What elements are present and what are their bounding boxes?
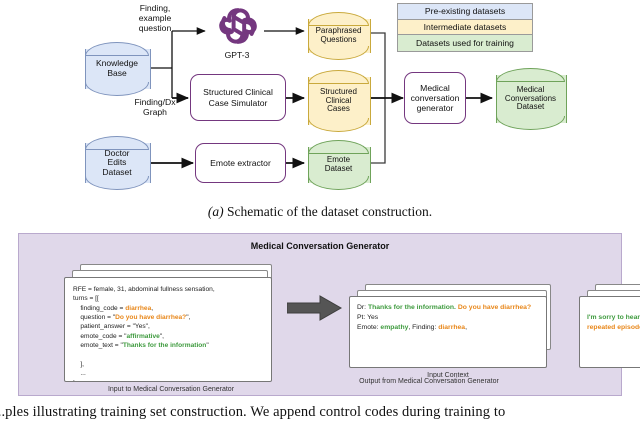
legend-label: Datasets used for training xyxy=(416,38,514,48)
text-line: question = "Do you have diarrhea?", xyxy=(73,313,263,322)
text-line: ] xyxy=(73,379,263,382)
text-line: Dr: Thanks for the information. Do you h… xyxy=(357,303,539,313)
plain-text: ", xyxy=(186,314,190,321)
plain-text: ] xyxy=(73,380,75,382)
plain-text: finding_code = xyxy=(73,305,125,312)
datastore-label: Structured Clinical Cases xyxy=(308,70,369,132)
plain-text: Pt: Yes xyxy=(357,314,378,321)
text-line: Pt: Yes xyxy=(357,313,539,323)
input-code-text: RFE = female, 31, abdominal fullness sen… xyxy=(65,278,271,382)
input-context-text: Dr: Thanks for the information. Do you h… xyxy=(350,297,546,339)
edge-label-finding-dx-graph: Finding/Dx Graph xyxy=(118,98,192,118)
datastore-label: Doctor Edits Dataset xyxy=(85,136,149,190)
datastore-label: Knowledge Base xyxy=(85,42,149,96)
highlight-emote: empathy xyxy=(380,324,408,331)
schematic-diagram: Finding, example question Finding/Dx Gra… xyxy=(0,0,640,200)
highlight-finding: diarrhea xyxy=(125,305,151,312)
plain-text: Dr: xyxy=(357,304,368,311)
legend: Pre-existing datasets Intermediate datas… xyxy=(397,3,533,52)
figure-page: Finding, example question Finding/Dx Gra… xyxy=(0,0,640,425)
plain-text: emote_text = " xyxy=(73,342,123,349)
datastore-medical-conversations-dataset: Medical Conversations Dataset xyxy=(496,68,565,130)
input-context-card-stack: Dr: Thanks for the information. Do you h… xyxy=(349,264,564,382)
legend-label: Pre-existing datasets xyxy=(425,6,505,16)
caption-a: (a) Schematic of the dataset constructio… xyxy=(0,204,640,220)
process-medical-conversation-generator[interactable]: Medical conversation generator xyxy=(404,72,466,124)
text-line: I'm sorry to hear that. Have you had xyxy=(587,313,640,323)
datastore-label: Emote Dataset xyxy=(308,140,369,190)
plain-text: patient_answer = "Yes", xyxy=(73,323,150,330)
flow-arrow-icon xyxy=(287,295,342,321)
highlight-finding: Do you have diarrhea? xyxy=(458,304,531,311)
legend-item-pre-existing: Pre-existing datasets xyxy=(398,4,532,20)
gpt3-node: GPT-3 xyxy=(208,4,266,66)
caption-marker: (a) xyxy=(208,204,224,219)
datastore-label: Medical Conversations Dataset xyxy=(496,68,565,130)
input-code-card[interactable]: RFE = female, 31, abdominal fullness sen… xyxy=(64,277,272,382)
text-line: repeated episodes of abdominal pain? xyxy=(587,323,640,333)
process-structured-clinical-case-simulator[interactable]: Structured Clinical Case Simulator xyxy=(190,74,286,121)
openai-logo-icon xyxy=(216,4,260,48)
text-line xyxy=(73,351,263,360)
text-line: emote_code = "affirmative", xyxy=(73,332,263,341)
highlight-finding: diarrhea xyxy=(438,324,465,331)
caption-text: Schematic of the dataset construction. xyxy=(227,204,432,219)
text-line: Emote: empathy, Finding: diarrhea, xyxy=(357,323,539,333)
plain-text: Emote: xyxy=(357,324,380,331)
input-context-card[interactable]: Dr: Thanks for the information. Do you h… xyxy=(349,296,547,368)
text-line: RFE = female, 31, abdominal fullness sen… xyxy=(73,285,263,294)
legend-label: Intermediate datasets xyxy=(424,22,507,32)
plain-text: , xyxy=(151,305,153,312)
highlight-finding: repeated episodes of abdominal pain? xyxy=(587,324,640,331)
gpt3-label: GPT-3 xyxy=(208,48,266,62)
plain-text: ... xyxy=(73,370,86,377)
text-line: patient_answer = "Yes", xyxy=(73,322,263,331)
highlight-emote: affirmative xyxy=(126,333,159,340)
process-label: Emote extractor xyxy=(210,158,271,168)
plain-text: RFE = female, 31, abdominal fullness sen… xyxy=(73,286,215,293)
plain-text: ], xyxy=(73,361,84,368)
text-line: ... xyxy=(73,369,263,378)
example-panel: Medical Conversation Generator RFE = fem… xyxy=(18,233,622,396)
predicted-output-text: I'm sorry to hear that. Have you hadrepe… xyxy=(580,297,640,339)
datastore-emote-dataset: Emote Dataset xyxy=(308,140,369,190)
datastore-doctor-edits-dataset: Doctor Edits Dataset xyxy=(85,136,149,190)
process-emote-extractor[interactable]: Emote extractor xyxy=(195,143,286,183)
datastore-paraphrased-questions: Paraphrased Questions xyxy=(308,12,369,60)
plain-text: , xyxy=(465,324,467,331)
input-caption: Input to Medical Conversation Generator xyxy=(56,386,286,393)
highlight-emote: Thanks for the information xyxy=(123,342,207,349)
text-line: finding_code = diarrhea, xyxy=(73,304,263,313)
body-paragraph-fragment: ...ples illustrating training set constr… xyxy=(0,404,640,421)
predicted-output-card[interactable]: I'm sorry to hear that. Have you hadrepe… xyxy=(579,296,640,368)
datastore-structured-clinical-cases: Structured Clinical Cases xyxy=(308,70,369,132)
predicted-output-card-stack: I'm sorry to hear that. Have you hadrepe… xyxy=(579,264,640,382)
highlight-emote: I'm sorry to hear that. xyxy=(587,314,640,321)
edge-label-finding-example-question: Finding, example question xyxy=(120,4,190,34)
output-caption: Output from Medical Conversation Generat… xyxy=(269,378,589,385)
text-line: ], xyxy=(73,360,263,369)
plain-text: emote_code = " xyxy=(73,333,126,340)
plain-text: , Finding: xyxy=(408,324,438,331)
plain-text: turns = [[ xyxy=(73,295,99,302)
text-line: emote_text = "Thanks for the information… xyxy=(73,341,263,350)
plain-text: " xyxy=(206,342,208,349)
legend-item-intermediate: Intermediate datasets xyxy=(398,20,532,36)
input-card-stack: RFE = female, 31, abdominal fullness sen… xyxy=(64,264,284,382)
plain-text: ", xyxy=(160,333,164,340)
example-panel-title: Medical Conversation Generator xyxy=(19,241,621,251)
text-line: turns = [[ xyxy=(73,294,263,303)
plain-text: question = " xyxy=(73,314,115,321)
datastore-knowledge-base: Knowledge Base xyxy=(85,42,149,96)
highlight-emote: Thanks for the information. xyxy=(368,304,456,311)
process-label: Structured Clinical Case Simulator xyxy=(203,87,273,107)
process-label: Medical conversation generator xyxy=(411,83,460,113)
highlight-finding: Do you have diarrhea? xyxy=(115,314,186,321)
legend-item-training: Datasets used for training xyxy=(398,35,532,51)
datastore-label: Paraphrased Questions xyxy=(308,12,369,60)
